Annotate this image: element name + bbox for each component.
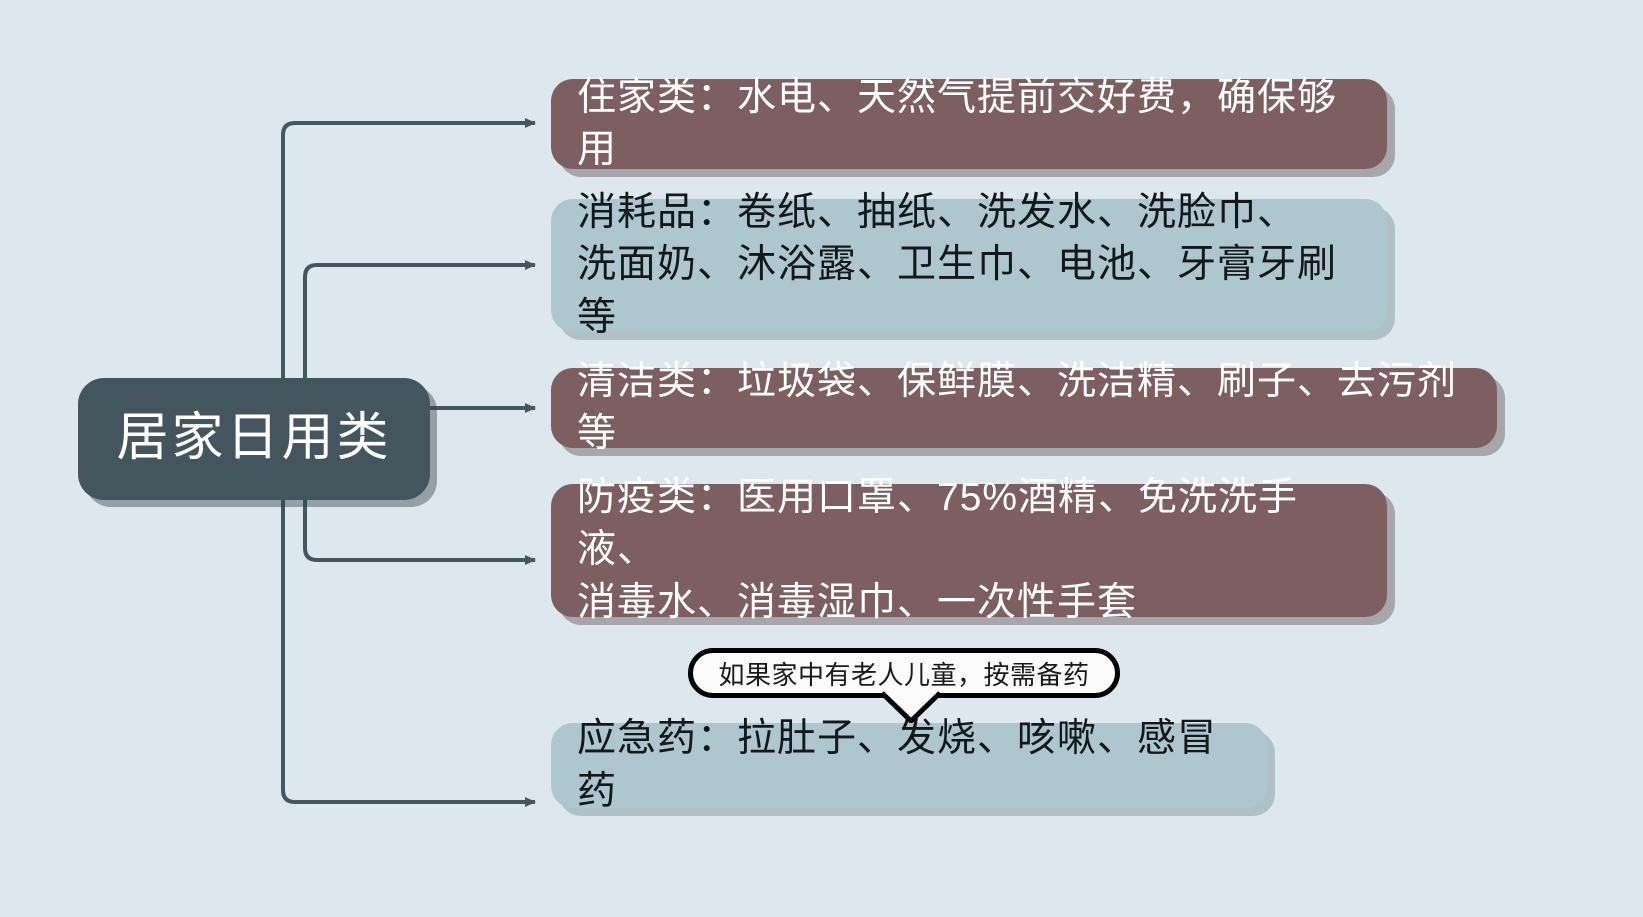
category-text: 住家类：水电、天然气提前交好费，确保够用: [577, 72, 1361, 177]
category-box-qingjielei[interactable]: 清洁类：垃圾袋、保鲜膜、洗洁精、刷子、去污剂等: [551, 368, 1497, 448]
category-text: 清洁类：垃圾袋、保鲜膜、洗洁精、刷子、去污剂等: [577, 356, 1471, 461]
root-node[interactable]: 居家日用类: [78, 378, 430, 500]
root-node-label: 居家日用类: [116, 410, 391, 467]
connector-to-box-1: [305, 265, 535, 277]
connector-to-box-0: [283, 123, 535, 135]
category-box-fangyilei[interactable]: 防疫类：医用口罩、75%酒精、免洗洗手液、 消毒水、消毒湿巾、一次性手套: [551, 484, 1387, 617]
mindmap-canvas: 居家日用类 住家类：水电、天然气提前交好费，确保够用 消耗品：卷纸、抽纸、洗发水…: [0, 0, 1643, 917]
callout-text: 如果家中有老人儿童，按需备药: [718, 655, 1089, 692]
category-box-zhujialei[interactable]: 住家类：水电、天然气提前交好费，确保够用: [551, 79, 1387, 169]
category-text: 应急药：拉肚子、发烧、咳嗽、感冒药: [577, 713, 1241, 818]
callout-tail-icon: [880, 691, 942, 723]
category-box-xiaohaopin[interactable]: 消耗品：卷纸、抽纸、洗发水、洗脸巾、 洗面奶、沐浴露、卫生巾、电池、牙膏牙刷等: [551, 199, 1387, 332]
category-text: 消耗品：卷纸、抽纸、洗发水、洗脸巾、 洗面奶、沐浴露、卫生巾、电池、牙膏牙刷等: [577, 187, 1361, 344]
connector-to-box-3: [305, 548, 535, 560]
connector-to-box-4: [283, 790, 535, 802]
category-text: 防疫类：医用口罩、75%酒精、免洗洗手液、 消毒水、消毒湿巾、一次性手套: [577, 472, 1361, 629]
category-box-yingjiyao[interactable]: 应急药：拉肚子、发烧、咳嗽、感冒药: [551, 723, 1267, 808]
